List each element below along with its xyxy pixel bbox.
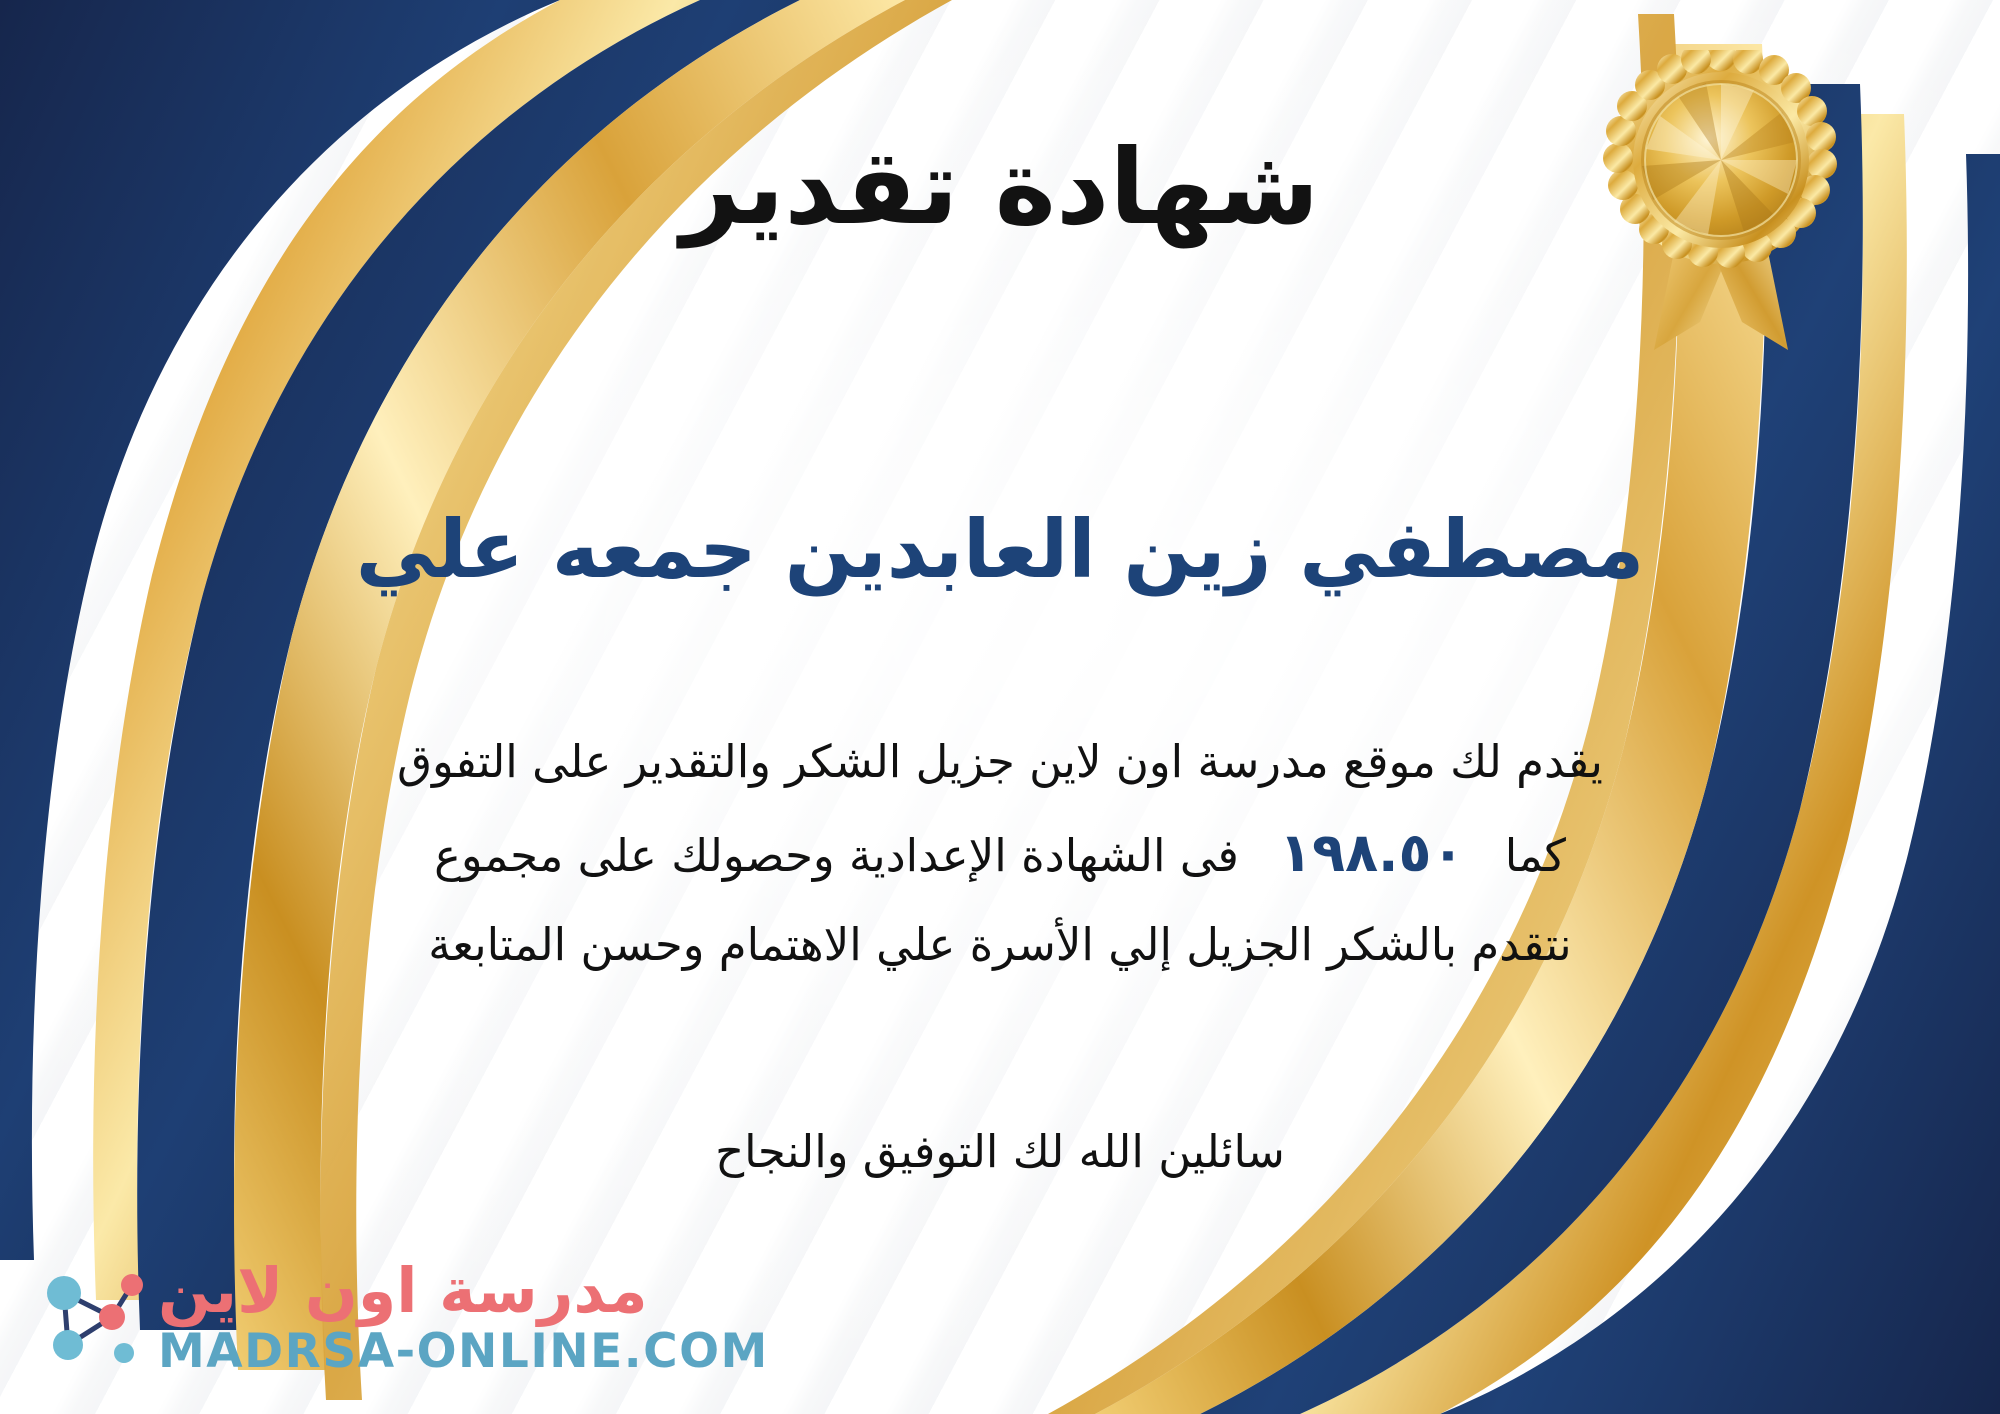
body-line-1: يقدم لك موقع مدرسة اون لاين جزيل الشكر و… [60, 720, 1940, 803]
closing-wish: سائلين الله لك التوفيق والنجاح [60, 1125, 1940, 1178]
body-line-2-prefix: فى الشهادة الإعدادية وحصولك على مجموع [434, 829, 1239, 882]
brand-name-arabic: مدرسة اون لاين [158, 1260, 648, 1322]
brand-text-block: مدرسة اون لاين MADRSA-ONLINE.COM [158, 1260, 769, 1375]
body-line-2: كما ١٩٨.٥٠ فى الشهادة الإعدادية وحصولك ع… [60, 803, 1940, 903]
page-title: شهادة تقدير [0, 128, 2000, 248]
grade-total: ١٩٨.٥٠ [1253, 821, 1490, 884]
certificate-body: يقدم لك موقع مدرسة اون لاين جزيل الشكر و… [60, 720, 1940, 986]
certificate-canvas: شهادة تقدير مصطفي زين العابدين جمعه علي … [0, 0, 2000, 1414]
brand-logo[interactable]: مدرسة اون لاين MADRSA-ONLINE.COM [28, 1242, 588, 1392]
body-line-3: نتقدم بالشكر الجزيل إلي الأسرة علي الاهت… [60, 903, 1940, 986]
brand-website: MADRSA-ONLINE.COM [158, 1328, 769, 1375]
recipient-name: مصطفي زين العابدين جمعه علي [140, 500, 1860, 600]
body-line-2-suffix: كما [1505, 829, 1566, 882]
network-nodes-icon [28, 1257, 148, 1377]
